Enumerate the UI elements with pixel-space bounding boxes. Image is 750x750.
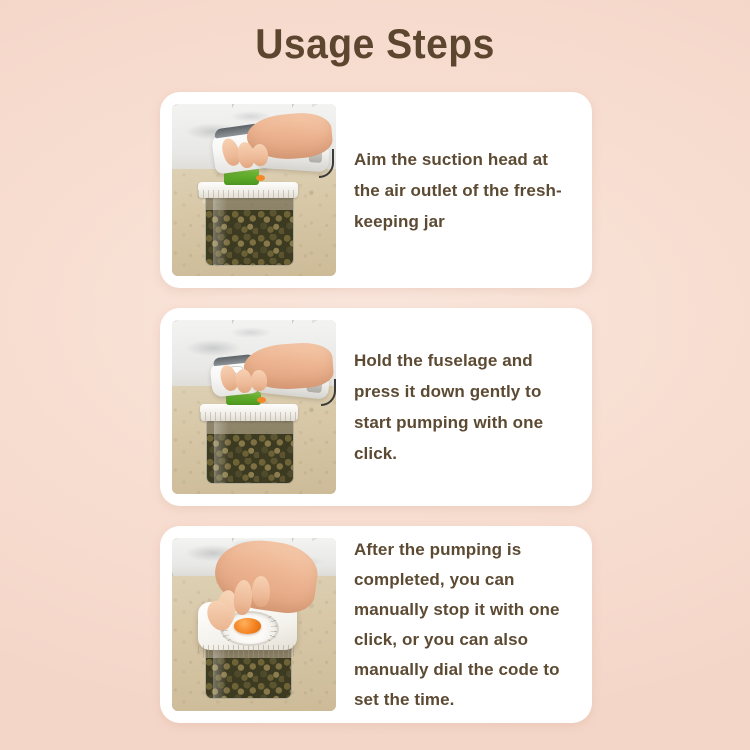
finger <box>250 370 267 391</box>
page-title: Usage Steps <box>26 0 724 74</box>
jar-highlight <box>214 420 228 482</box>
lid-ribs <box>198 190 298 198</box>
scene-3 <box>172 538 336 711</box>
food-jar <box>206 419 293 483</box>
step-card-2: Hold the fuselage and press it down gent… <box>160 308 592 506</box>
air-outlet-valve <box>257 397 266 403</box>
usage-steps-infographic: Usage Steps <box>0 0 750 750</box>
step-3-text: After the pumping is completed, you can … <box>336 535 580 715</box>
lid-ribs <box>198 645 296 659</box>
jar-highlight <box>213 194 227 264</box>
finger <box>252 576 270 607</box>
jar-lid <box>200 404 298 421</box>
step-2-text: Hold the fuselage and press it down gent… <box>336 345 580 469</box>
food-jar <box>205 193 294 265</box>
lid-ribs <box>200 412 298 421</box>
scene-1 <box>172 104 336 276</box>
scene-2 <box>172 320 336 494</box>
step-3-photo <box>172 538 336 711</box>
step-1-text: Aim the suction head at the air outlet o… <box>336 144 580 237</box>
step-2-photo <box>172 320 336 494</box>
dial-knob <box>234 618 262 634</box>
step-card-1: Aim the suction head at the air outlet o… <box>160 92 592 288</box>
step-card-3: After the pumping is completed, you can … <box>160 526 592 723</box>
steps-list: Aim the suction head at the air outlet o… <box>160 92 592 743</box>
step-1-photo <box>172 104 336 276</box>
